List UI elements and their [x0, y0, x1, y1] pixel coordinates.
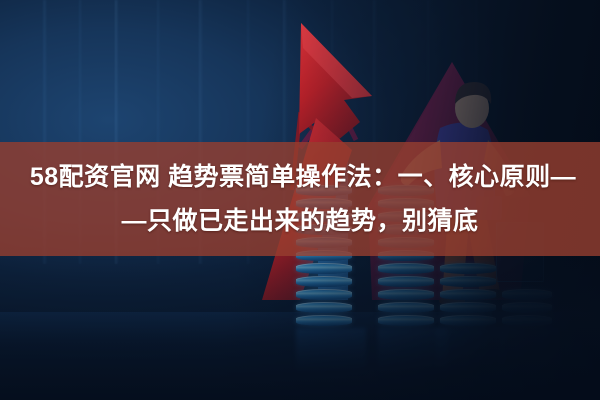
caption-band: 58配资官网 趋势票简单操作法：一、核心原则— —只做已走出来的趋势，别猜底: [0, 142, 600, 256]
caption-line-1: 58配资官网 趋势票简单操作法：一、核心原则—: [24, 155, 576, 199]
caption-line-2: —只做已走出来的趋势，别猜底: [121, 199, 478, 243]
cover-image-canvas: 58配资官网 趋势票简单操作法：一、核心原则— —只做已走出来的趋势，别猜底: [0, 0, 600, 400]
